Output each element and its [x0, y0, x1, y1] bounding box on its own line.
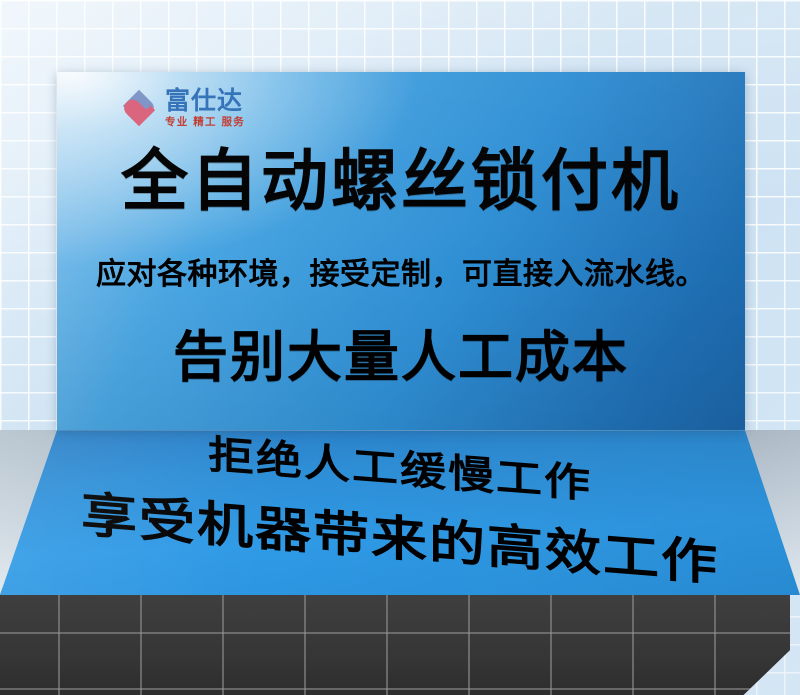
promo-banner-stage: 拒绝人工缓慢工作 享受机器带来的高效工作 富仕达 专业 精工 服务 全自动螺丝锁…	[0, 0, 800, 695]
main-headline: 全自动螺丝锁付机	[57, 148, 745, 215]
brand-logo: 富仕达 专业 精工 服务	[120, 88, 245, 128]
brand-logo-text: 富仕达 专业 精工 服务	[165, 88, 245, 128]
tagline: 告别大量人工成本	[57, 330, 745, 385]
floor-text-group: 拒绝人工缓慢工作 享受机器带来的高效工作	[0, 430, 800, 595]
blue-floor-panel: 拒绝人工缓慢工作 享受机器带来的高效工作	[0, 430, 800, 595]
blue-billboard-panel: 富仕达 专业 精工 服务 全自动螺丝锁付机 应对各种环境，接受定制，可直接入流水…	[57, 72, 745, 430]
dark-tiled-floor	[0, 588, 800, 695]
sub-headline: 应对各种环境，接受定制，可直接入流水线。	[57, 260, 745, 290]
brand-name: 富仕达	[165, 88, 245, 113]
diamond-s-logo-icon	[120, 89, 158, 127]
brand-slogan: 专业 精工 服务	[165, 117, 245, 128]
